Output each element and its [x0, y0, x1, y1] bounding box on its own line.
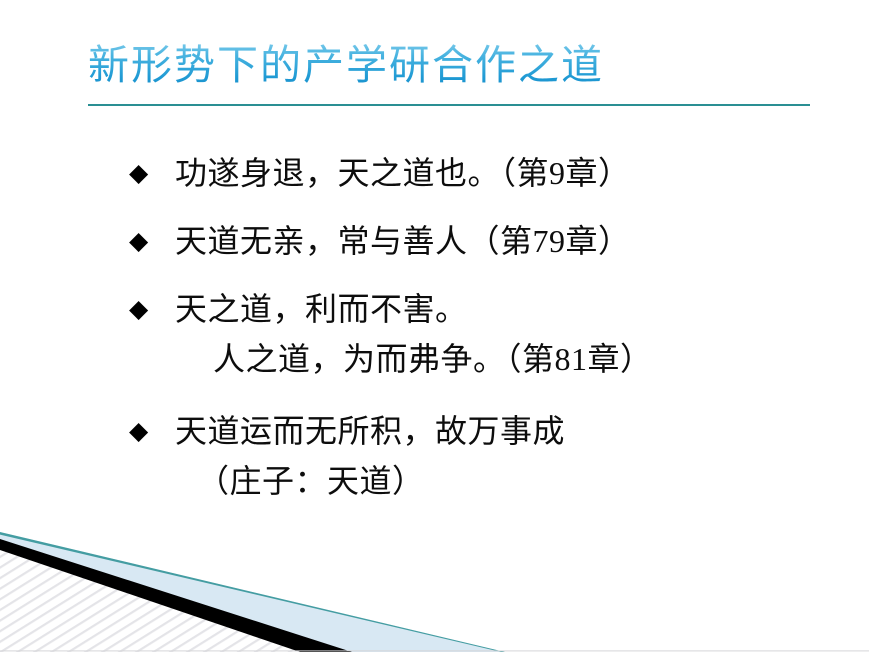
diamond-bullet-icon: ◆: [129, 284, 175, 334]
decor-bottom-edge: [0, 650, 869, 651]
list-item-line: 天道无亲，常与善人（第79章）: [175, 216, 829, 266]
page-title: 新形势下的产学研合作之道: [88, 36, 818, 94]
decor-hairline: [0, 532, 505, 652]
title-block: 新形势下的产学研合作之道: [88, 36, 818, 108]
list-item-line: 功遂身退，天之道也。（第9章）: [175, 148, 829, 198]
bullet-list: ◆ 功遂身退，天之道也。（第9章） ◆ 天道无亲，常与善人（第79章） ◆ 天之…: [129, 148, 829, 524]
slide-canvas: 新形势下的产学研合作之道 ◆ 功遂身退，天之道也。（第9章） ◆ 天道无亲，常与…: [0, 0, 869, 652]
diamond-bullet-icon: ◆: [129, 406, 175, 456]
diamond-bullet-icon: ◆: [129, 216, 175, 266]
list-item-body: 天之道，利而不害。 人之道，为而弗争。（第81章）: [175, 284, 829, 384]
list-item-body: 天道无亲，常与善人（第79章）: [175, 216, 829, 266]
decor-black-band: [0, 539, 352, 652]
list-item-line: 天之道，利而不害。: [175, 284, 829, 334]
list-item: ◆ 天之道，利而不害。 人之道，为而弗争。（第81章）: [129, 284, 829, 384]
decor-striped-triangle: [0, 532, 420, 652]
diamond-bullet-icon: ◆: [129, 148, 175, 198]
list-item: ◆ 天道运而无所积，故万事成 （庄子：天道）: [129, 406, 829, 506]
list-item-body: 天道运而无所积，故万事成 （庄子：天道）: [175, 406, 829, 506]
list-item: ◆ 天道无亲，常与善人（第79章）: [129, 216, 829, 266]
list-item-line: 人之道，为而弗争。（第81章）: [175, 334, 829, 384]
decor-blue-wedge: [0, 532, 505, 652]
list-item-line: （庄子：天道）: [175, 456, 829, 506]
list-item-body: 功遂身退，天之道也。（第9章）: [175, 148, 829, 198]
list-item-line: 天道运而无所积，故万事成: [175, 406, 829, 456]
title-underline-rule: [88, 104, 810, 106]
list-item: ◆ 功遂身退，天之道也。（第9章）: [129, 148, 829, 198]
